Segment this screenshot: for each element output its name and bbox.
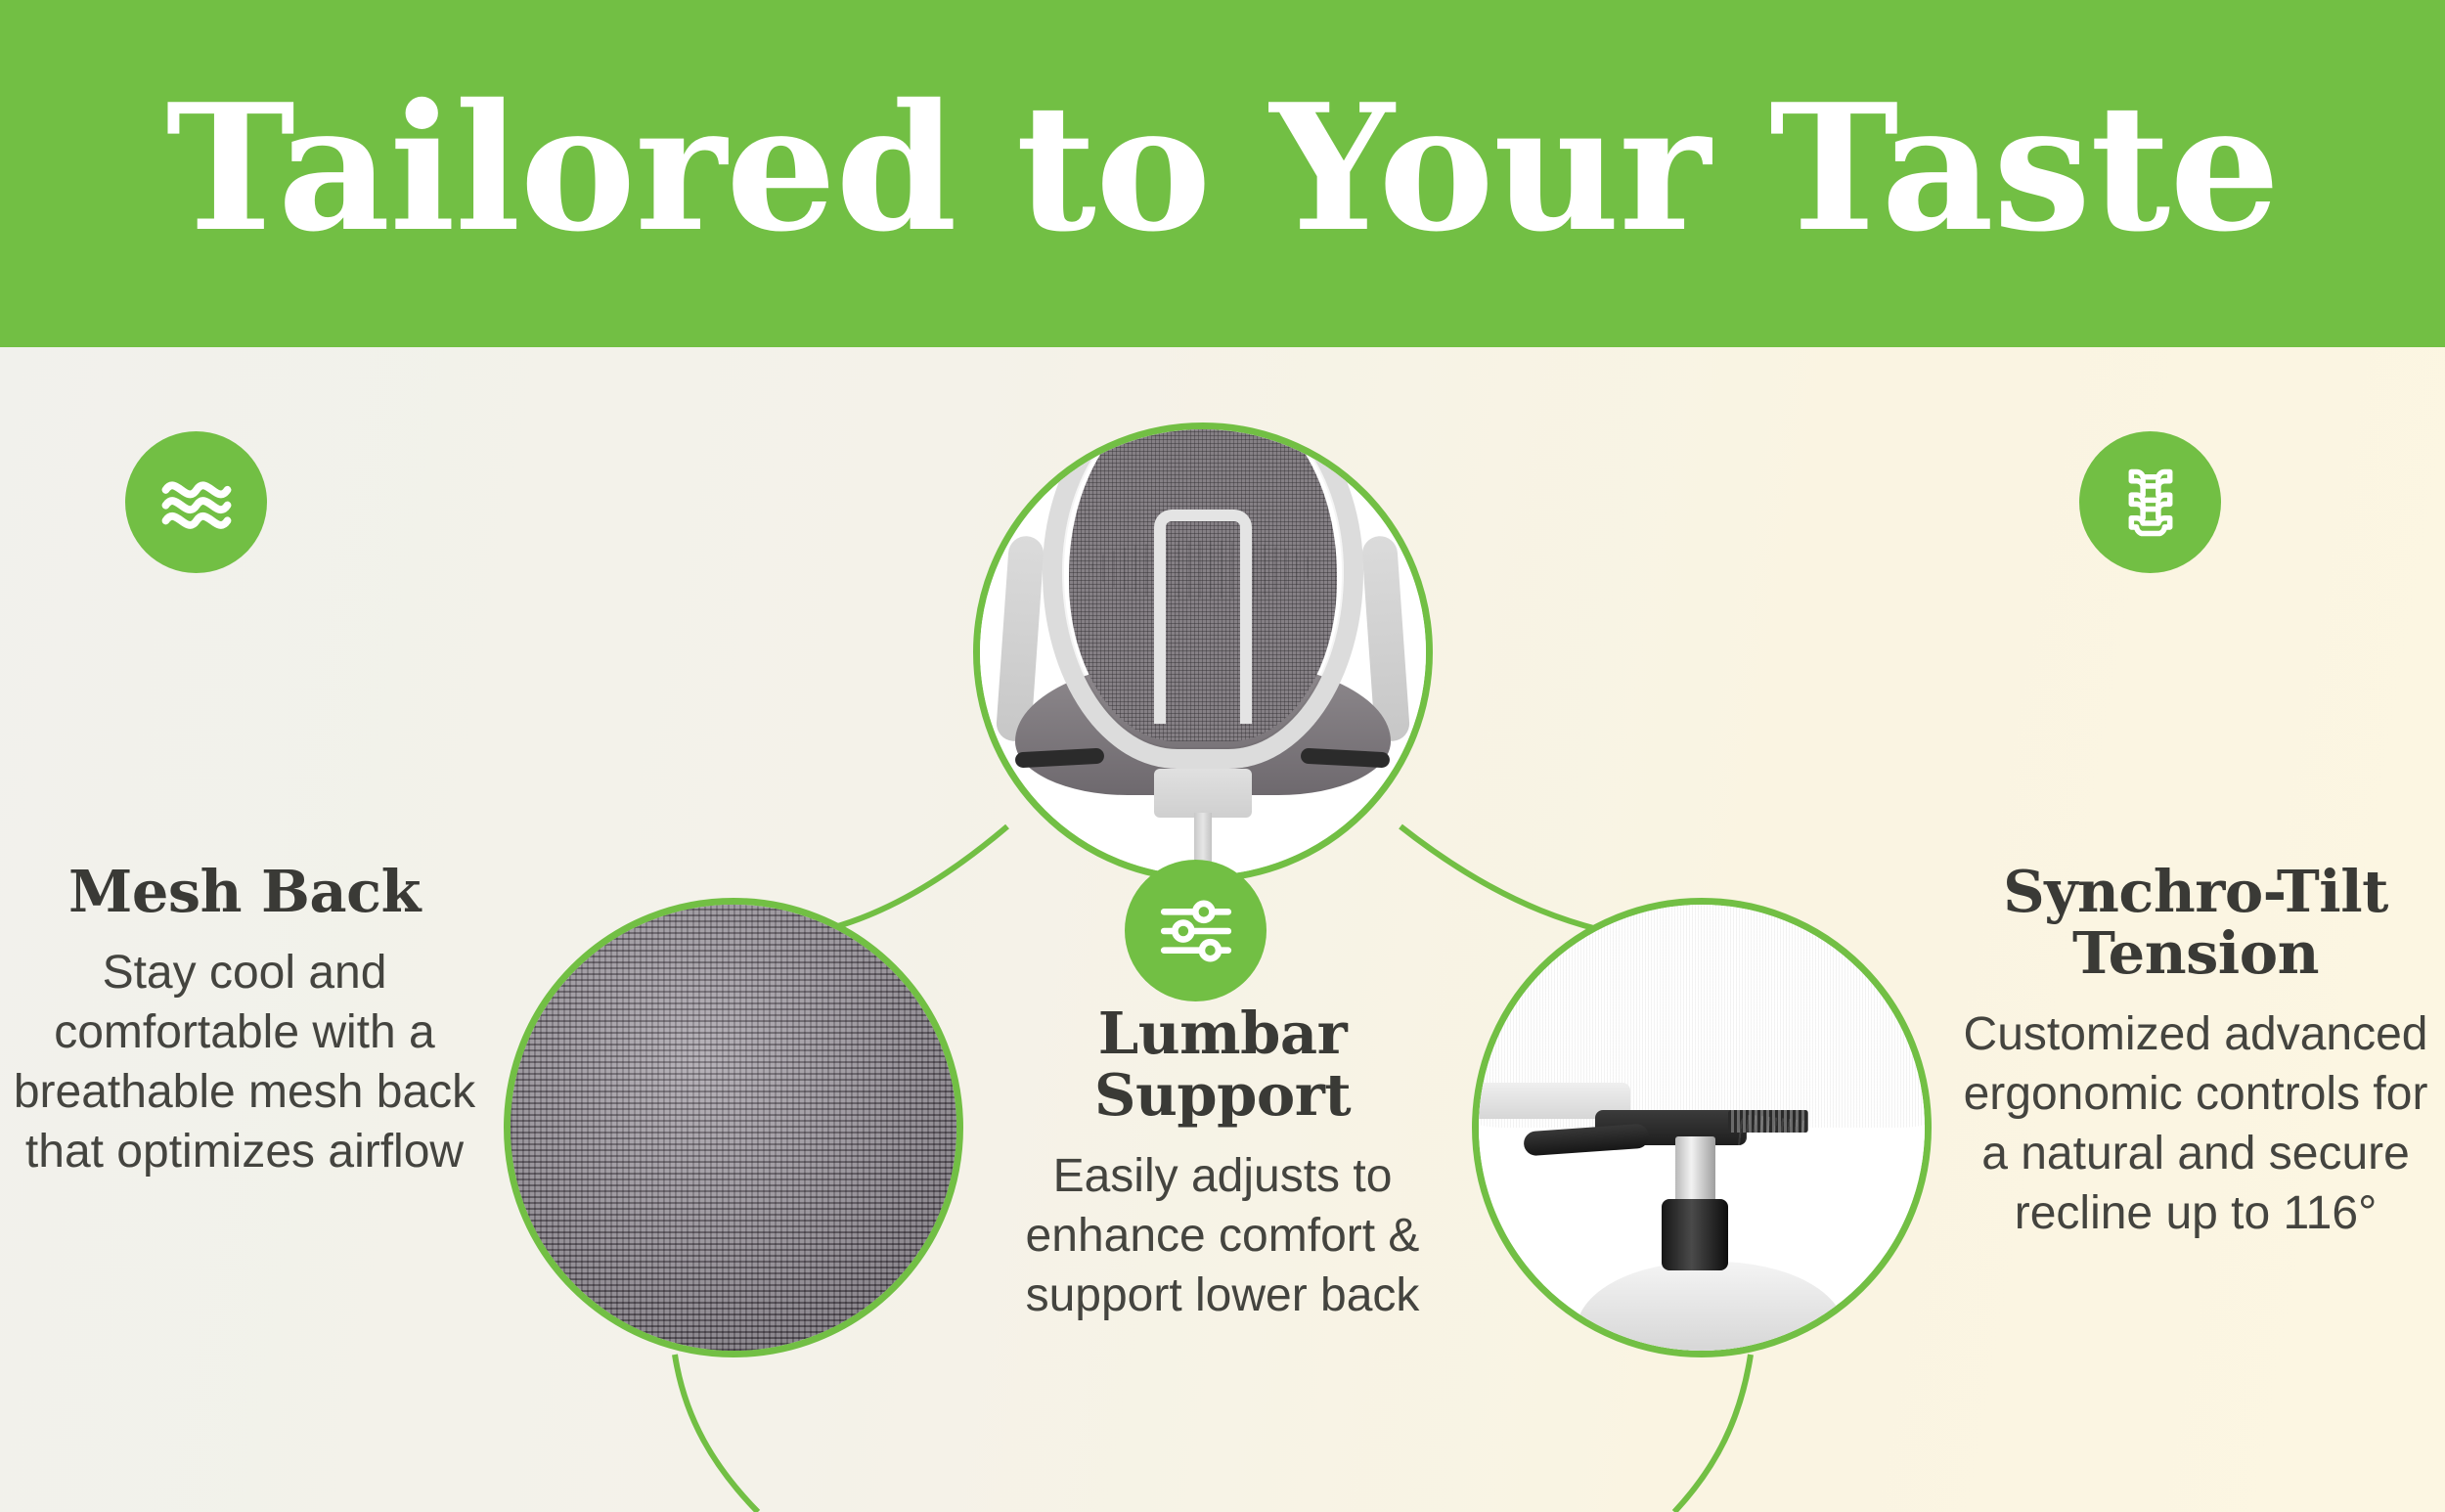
feature-lumbar-support-title: Lumbar Support — [1002, 1002, 1443, 1126]
spine-vertebrae-icon — [2079, 431, 2221, 573]
chair-back-photo — [973, 422, 1433, 882]
mesh-swatch-photo — [504, 898, 963, 1357]
spine-vertebrae-glyph — [2110, 462, 2192, 544]
airflow-waves-icon — [125, 431, 267, 573]
feature-synchro-tilt-tension-title: Synchro-Tilt Tension — [1951, 861, 2440, 984]
tilt-mechanism-photo — [1472, 898, 1932, 1357]
header-banner: Tailored to Your Taste — [0, 0, 2445, 347]
infographic-canvas: Tailored to Your Taste — [0, 0, 2445, 1512]
feature-mesh-back: Mesh Back Stay cool and comfortable with… — [0, 861, 489, 1182]
sliders-adjust-glyph — [1155, 890, 1237, 972]
sliders-adjust-icon — [1125, 860, 1267, 1001]
feature-mesh-back-description: Stay cool and comfortable with a breatha… — [0, 944, 489, 1182]
airflow-waves-glyph — [156, 462, 238, 544]
connector-mesh-to-bottom — [675, 1355, 758, 1512]
connector-tilt-to-bottom — [1674, 1355, 1751, 1512]
feature-synchro-tilt-tension-description: Customized advanced ergonomic controls f… — [1951, 1005, 2440, 1244]
page-title: Tailored to Your Taste — [165, 81, 2279, 255]
feature-mesh-back-title: Mesh Back — [0, 861, 489, 922]
feature-lumbar-support: Lumbar Support Easily adjusts to enhance… — [1002, 1002, 1443, 1326]
feature-synchro-tilt-tension: Synchro-Tilt Tension Customized advanced… — [1951, 861, 2440, 1244]
feature-lumbar-support-description: Easily adjusts to enhance comfort & supp… — [1002, 1147, 1443, 1326]
